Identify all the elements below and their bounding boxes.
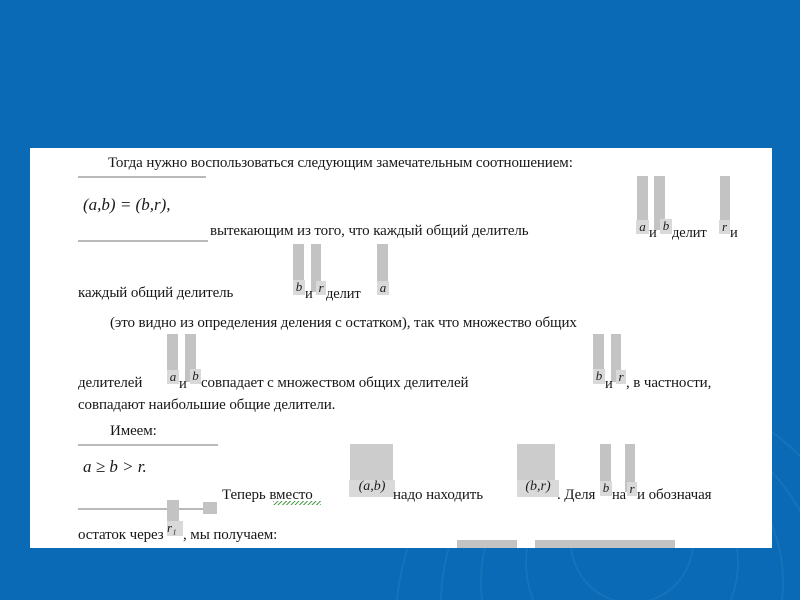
inline-math-r: r: [627, 482, 637, 496]
slide-content-panel: Тогда нужно воспользоваться следующим за…: [30, 148, 772, 548]
inline-math-b: b: [593, 369, 605, 384]
inline-math-r: r: [316, 281, 326, 295]
image-placeholder: [535, 540, 675, 548]
inline-math-ab-pair: (a,b): [349, 480, 395, 497]
paragraph-line-8-e: и обозначая: [637, 488, 711, 503]
decorative-rule: [78, 508, 203, 510]
paragraph-line-8-c: . Деля: [557, 488, 595, 503]
slide-canvas: Тогда нужно воспользоваться следующим за…: [0, 0, 800, 600]
preposition-na: на: [612, 488, 626, 503]
paragraph-line-9-b: , мы получаем:: [183, 528, 277, 543]
inline-math-r: r: [616, 370, 626, 384]
decorative-rule: [78, 176, 206, 178]
paragraph-line-8-b: надо находить: [393, 488, 483, 503]
display-formula-1: (a,b) = (b,r),: [83, 196, 170, 213]
spellcheck-underline: [273, 501, 321, 505]
inline-math-b: b: [293, 280, 305, 295]
display-formula-2: a ≥ b > r.: [83, 458, 147, 475]
paragraph-line-2: вытекающим из того, что каждый общий дел…: [210, 224, 529, 239]
conjunction-and: и: [605, 377, 613, 392]
verb-divides: делит: [672, 226, 707, 241]
inline-math-a: a: [636, 220, 649, 234]
paragraph-line-5-b: совпадает с множеством общих делителей: [201, 376, 468, 391]
inline-math-b: b: [600, 481, 612, 496]
paragraph-line-4: (это видно из определения деления с оста…: [110, 316, 577, 331]
decorative-rule: [78, 444, 218, 446]
paragraph-line-9-a: остаток через: [78, 528, 164, 543]
conjunction-and: и: [730, 226, 738, 241]
inline-math-br-pair: (b,r): [517, 480, 559, 497]
inline-math-a: a: [377, 281, 389, 295]
paragraph-line-3: каждый общий делитель: [78, 286, 233, 301]
verb-divides: делит: [326, 287, 361, 302]
inline-math-a: a: [167, 370, 179, 384]
conjunction-and: и: [305, 287, 313, 302]
paragraph-line-7: Имеем:: [110, 424, 157, 439]
paragraph-line-1: Тогда нужно воспользоваться следующим за…: [108, 156, 573, 171]
paragraph-line-5-a: делителей: [78, 376, 142, 391]
paragraph-line-5-c: , в частности,: [626, 376, 711, 391]
inline-math-b: b: [190, 369, 201, 384]
conjunction-and: и: [179, 377, 187, 392]
inline-math-r: r: [719, 220, 730, 234]
image-placeholder: [457, 540, 517, 548]
decorative-rule: [78, 240, 208, 242]
inline-math-b: b: [660, 219, 672, 234]
conjunction-and: и: [649, 226, 657, 241]
image-placeholder: [203, 502, 217, 514]
inline-math-r1: r₁: [167, 521, 183, 536]
paragraph-line-6: совпадают наибольшие общие делители.: [78, 398, 335, 413]
